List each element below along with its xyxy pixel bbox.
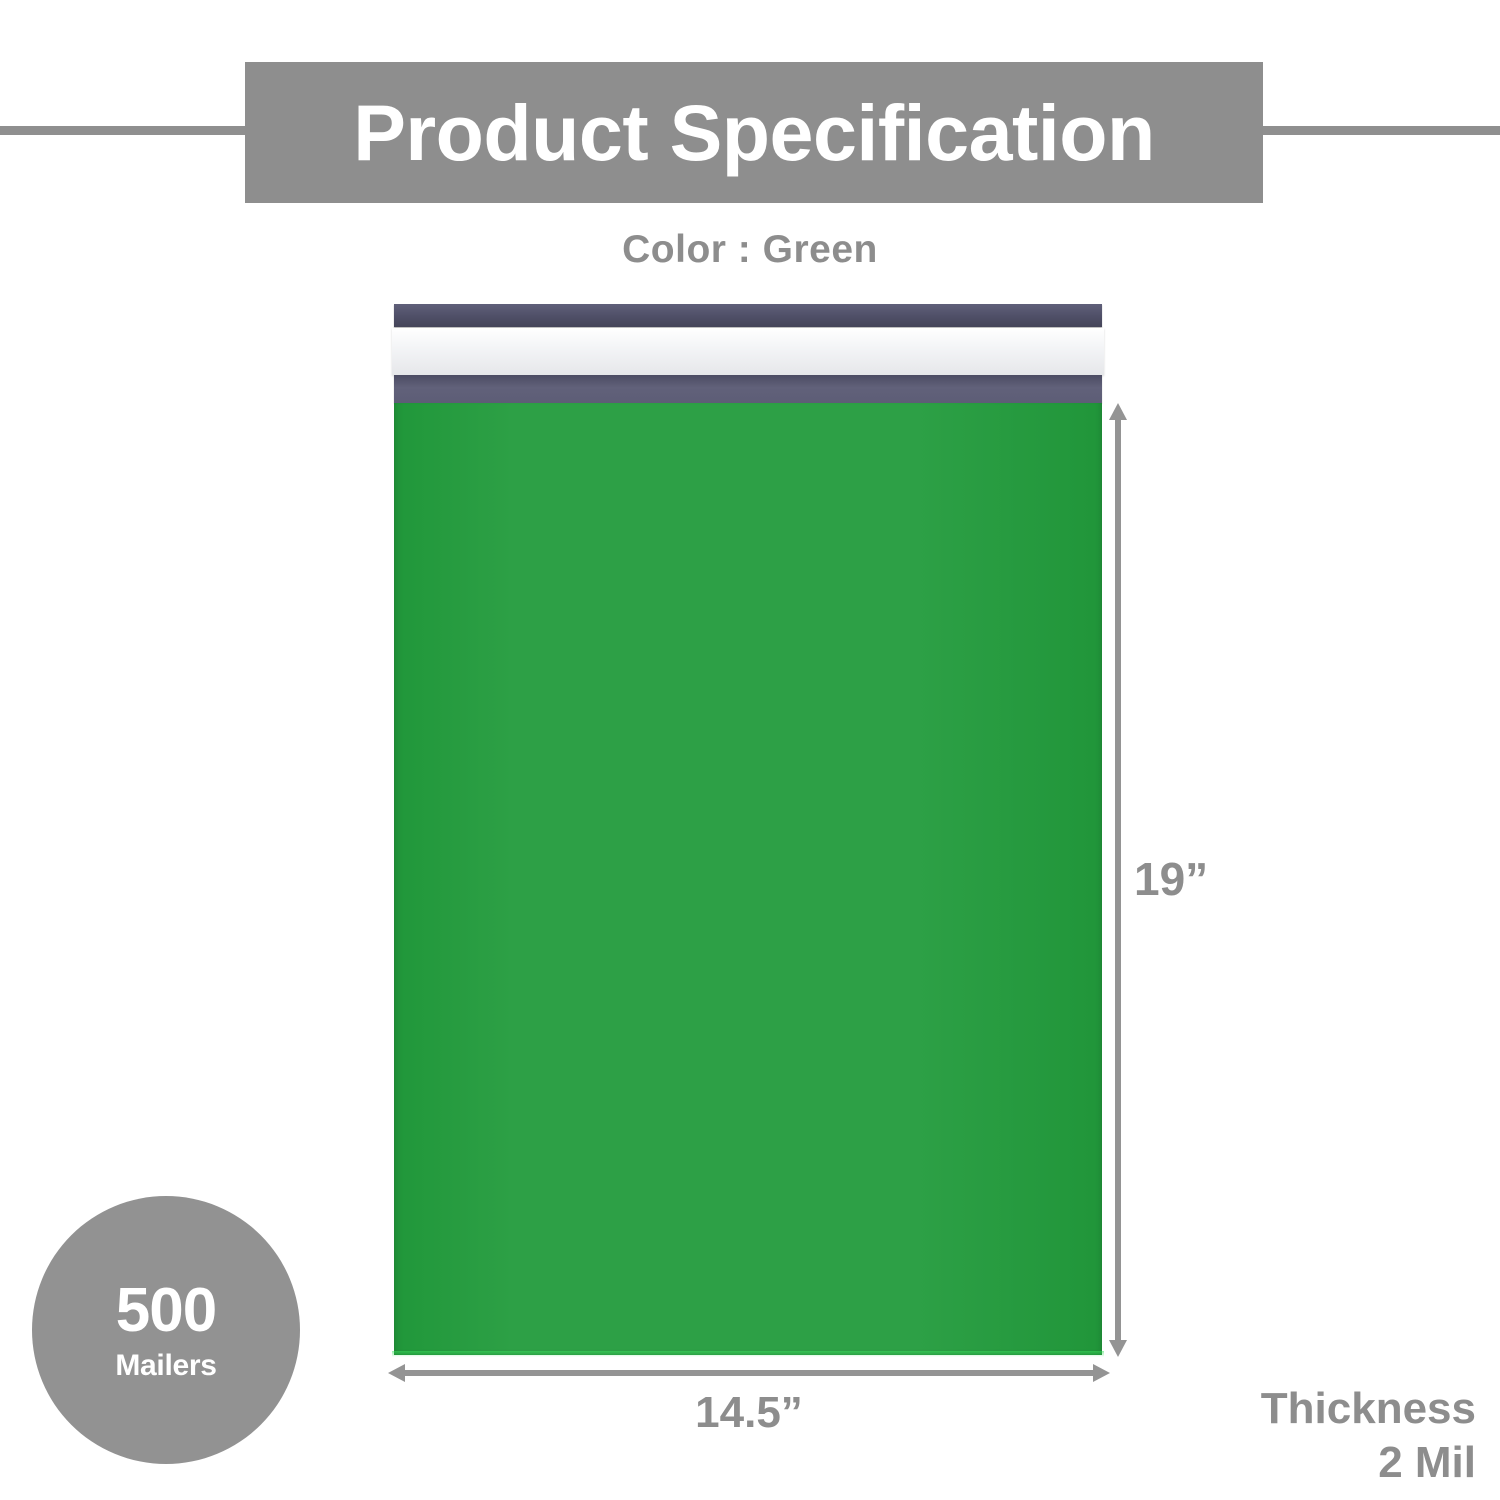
page-title: Product Specification xyxy=(353,93,1155,172)
dimension-line xyxy=(400,1370,1098,1376)
title-banner: Product Specification xyxy=(245,62,1263,203)
thickness-block: Thickness 2 Mil xyxy=(1261,1382,1476,1489)
width-dimension-label: 14.5” xyxy=(388,1388,1110,1438)
thickness-label: Thickness xyxy=(1261,1382,1476,1436)
quantity-badge-count: 500 xyxy=(116,1280,216,1342)
mailer-seal-band xyxy=(394,375,1102,403)
header-rule-left xyxy=(0,126,250,135)
dimension-line xyxy=(1115,415,1121,1345)
mailer-adhesive-strip xyxy=(392,328,1104,375)
width-dimension-arrow xyxy=(388,1363,1110,1383)
product-color-label: Color : Green xyxy=(0,228,1500,272)
arrow-down-icon xyxy=(1109,1340,1127,1357)
thickness-value: 2 Mil xyxy=(1261,1436,1476,1490)
quantity-badge-unit: Mailers xyxy=(115,1351,216,1381)
mailer-flap-top-band xyxy=(394,304,1102,327)
header-area: Product Specification xyxy=(0,0,1500,220)
mailer-bag-illustration xyxy=(392,302,1104,1355)
mailer-body xyxy=(394,403,1102,1355)
header-rule-right xyxy=(1258,126,1500,135)
arrow-right-icon xyxy=(1093,1364,1110,1382)
quantity-badge: 500 Mailers xyxy=(32,1196,300,1464)
height-dimension-label: 19” xyxy=(1134,852,1208,906)
height-dimension-arrow xyxy=(1108,403,1128,1357)
